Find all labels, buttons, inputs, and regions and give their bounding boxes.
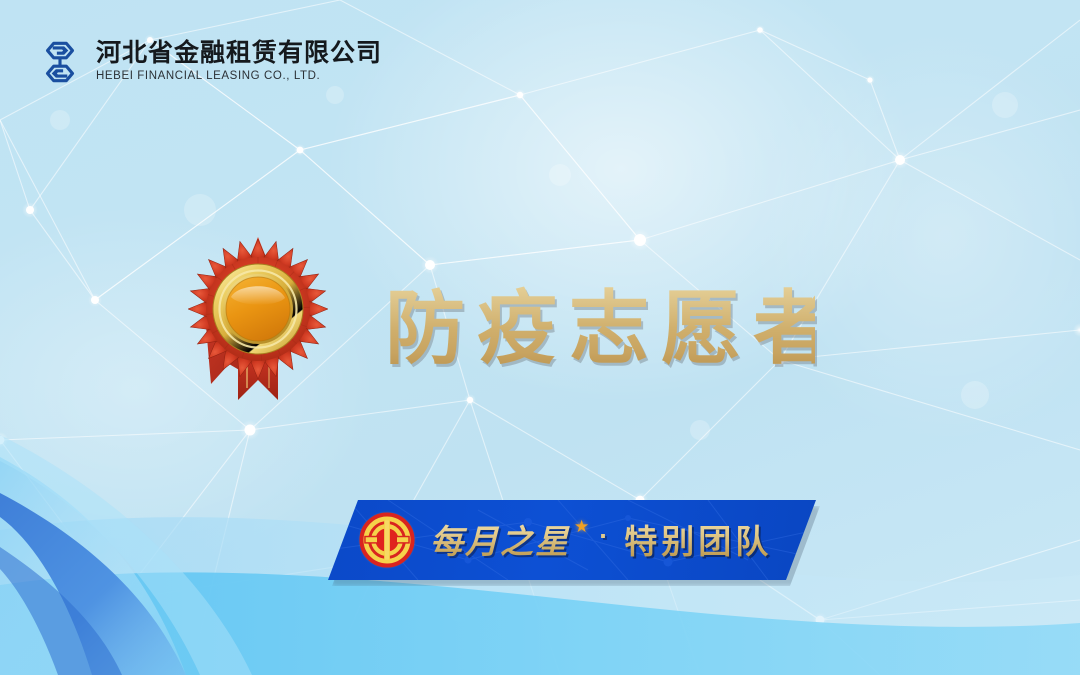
banner-text-row: 每月之星 ★ · 特别团队 xyxy=(430,515,778,563)
company-name-cn: 河北省金融租赁有限公司 xyxy=(96,40,382,66)
award-banner: 每月之星 ★ · 特别团队 xyxy=(328,500,816,580)
star-icon: ★ xyxy=(574,517,589,537)
banner-title-sub: 特别团队 xyxy=(624,515,772,563)
chinese-trade-union-emblem-icon xyxy=(358,511,416,569)
company-name-group: 河北省金融租赁有限公司 HEBEI FINANCIAL LEASING CO.,… xyxy=(96,40,382,83)
hebei-financial-leasing-logo-mark-icon xyxy=(34,36,86,88)
company-name-en: HEBEI FINANCIAL LEASING CO., LTD. xyxy=(96,70,382,84)
banner-content: 每月之星 ★ · 特别团队 xyxy=(328,500,816,580)
background-glow-right xyxy=(756,34,1080,439)
company-logo-block: 河北省金融租赁有限公司 HEBEI FINANCIAL LEASING CO.,… xyxy=(34,36,382,88)
banner-title-main: 每月之星 xyxy=(430,515,570,563)
page-title: 防疫志愿者 xyxy=(385,281,815,377)
award-rosette-icon xyxy=(183,228,333,408)
award-poster-canvas: 河北省金融租赁有限公司 HEBEI FINANCIAL LEASING CO.,… xyxy=(0,0,1080,675)
banner-body: 每月之星 ★ · 特别团队 xyxy=(328,500,816,580)
banner-separator: · xyxy=(599,521,608,552)
